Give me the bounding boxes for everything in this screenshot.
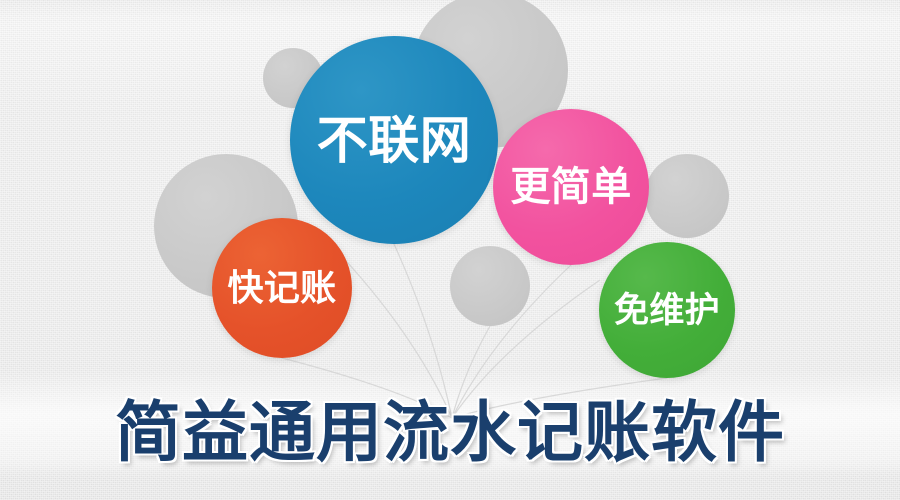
promo-banner: 不联网更简单快记账免维护 简益通用流水记账软件 xyxy=(0,0,900,500)
balloon-orange-label: 快记账 xyxy=(227,270,336,306)
page-title: 简益通用流水记账软件 xyxy=(0,399,900,465)
balloon-blue[interactable]: 不联网 xyxy=(290,36,498,244)
balloon-green[interactable]: 免维护 xyxy=(599,242,735,378)
balloon-green-label: 免维护 xyxy=(614,293,720,328)
balloon-blue-label: 不联网 xyxy=(317,115,472,166)
balloon-orange[interactable]: 快记账 xyxy=(212,218,352,358)
balloon-pink[interactable]: 更简单 xyxy=(493,109,649,265)
balloon-pink-label: 更简单 xyxy=(510,167,631,207)
